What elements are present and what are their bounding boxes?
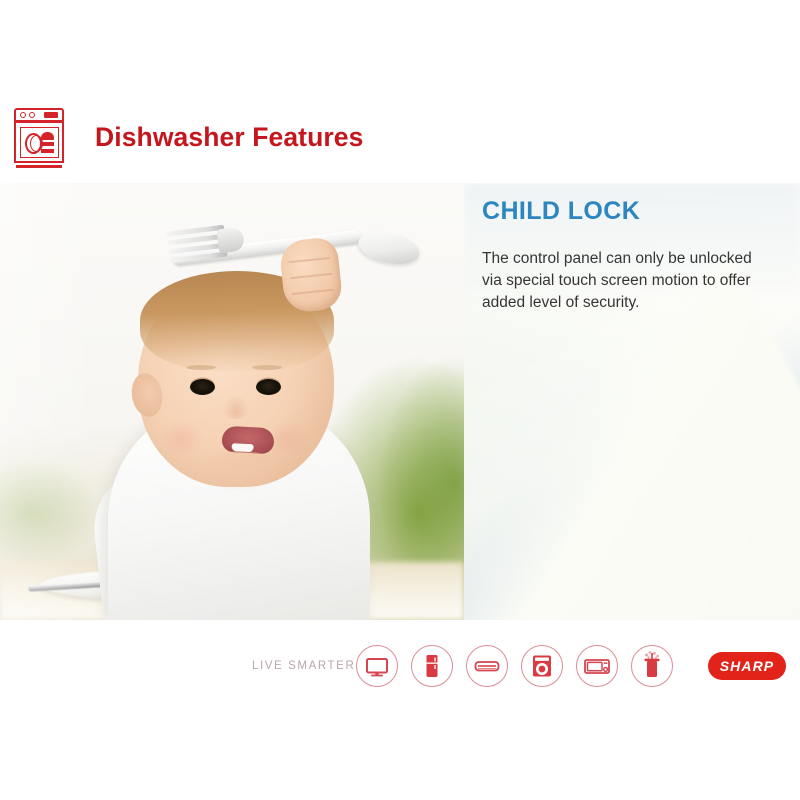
dishwasher-knob [29, 112, 35, 118]
photo-baby-eyebrow [186, 365, 216, 370]
feature-info-panel: CHILD LOCK The control panel can only be… [464, 183, 800, 620]
dishwasher-door [20, 127, 59, 158]
sharp-logo-text: SHARP [720, 658, 775, 674]
photo-baby-mouth [221, 426, 274, 455]
dishwasher-icon [12, 106, 66, 170]
dishwasher-cup [41, 132, 54, 140]
dishwasher-body [14, 121, 64, 163]
dishwasher-base [16, 165, 62, 169]
photo-baby-nose [222, 395, 250, 419]
photo-finger-line [292, 289, 334, 295]
dishwasher-dish [41, 142, 54, 146]
photo-finger-line [290, 273, 332, 279]
brand-footer: LIVE SMARTER [0, 638, 800, 694]
info-panel-content: CHILD LOCK The control panel can only be… [482, 197, 782, 314]
feature-band: CHILD LOCK The control panel can only be… [0, 183, 800, 620]
dishwasher-control-panel [14, 108, 64, 122]
microwave-oven-icon[interactable] [576, 645, 618, 687]
feature-description: The control panel can only be unlocked v… [482, 248, 760, 314]
photo-baby-cheek [160, 421, 204, 457]
photo-baby-eyebrow [252, 365, 282, 370]
photo-fork-neck [216, 226, 245, 253]
dishwasher-dish [41, 149, 54, 153]
television-icon[interactable] [356, 645, 398, 687]
page-title: Dishwasher Features [95, 122, 363, 153]
product-icon-row [356, 645, 673, 687]
dishwasher-knob [20, 112, 26, 118]
photo-baby-eye [190, 379, 215, 395]
photo-baby-eye [256, 379, 281, 395]
washing-machine-icon[interactable] [521, 645, 563, 687]
page-header: Dishwasher Features [0, 95, 800, 180]
air-conditioner-icon[interactable] [466, 645, 508, 687]
feature-title: CHILD LOCK [482, 197, 782, 226]
photo-finger-line [288, 257, 330, 263]
air-purifier-icon[interactable] [631, 645, 673, 687]
refrigerator-icon[interactable] [411, 645, 453, 687]
footer-tagline: LIVE SMARTER [252, 660, 355, 672]
sharp-logo[interactable]: SHARP [708, 652, 786, 680]
feature-slide: Dishwasher Features [0, 0, 800, 800]
photo-baby-chin [198, 451, 284, 491]
dishwasher-dish-stack [41, 132, 54, 156]
feature-photo [0, 183, 464, 620]
dishwasher-display [44, 112, 58, 118]
